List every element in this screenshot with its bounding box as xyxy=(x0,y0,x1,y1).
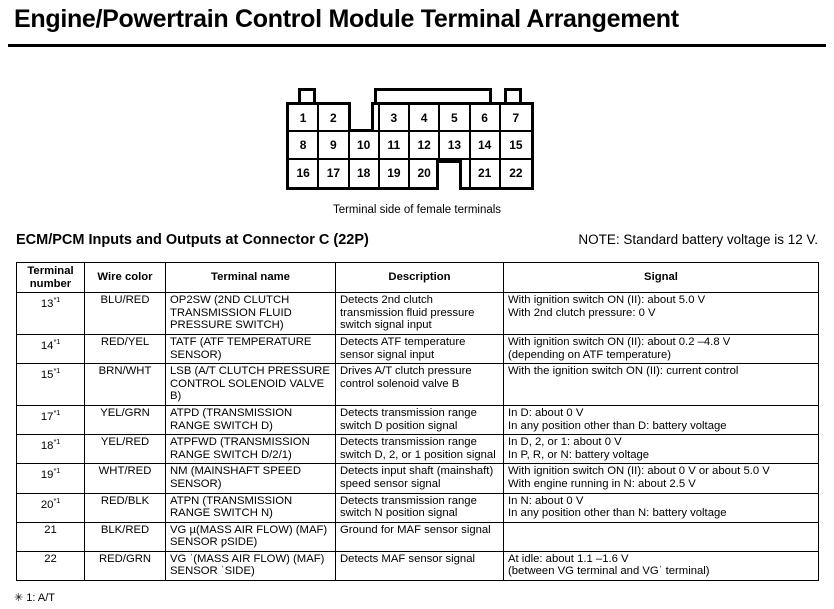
cell-description: Detects transmission range switch D posi… xyxy=(336,405,504,434)
title-divider xyxy=(8,44,826,47)
footnote-marker: *1 xyxy=(53,295,60,304)
footnote: ✳ 1: A/T xyxy=(14,591,55,604)
cell-description: Detects input shaft (mainshaft) speed se… xyxy=(336,464,504,493)
connector-pin-14: 14 xyxy=(471,132,501,159)
cell-terminal-name: ATPD (TRANSMISSION RANGE SWITCH D) xyxy=(166,405,336,434)
cell-wire-color: RED/BLK xyxy=(85,493,166,522)
connector-pin-6: 6 xyxy=(471,105,501,132)
cell-terminal-number: 13*1 xyxy=(17,293,85,335)
connector-pin-1: 1 xyxy=(289,105,319,132)
connector-pin-21: 21 xyxy=(471,160,501,187)
footnote-marker: *1 xyxy=(53,466,60,475)
cell-signal: In N: about 0 V In any position other th… xyxy=(504,493,819,522)
cell-signal: With the ignition switch ON (II): curren… xyxy=(504,364,819,406)
connector-pin-11: 11 xyxy=(380,132,410,159)
connector-pin-17: 17 xyxy=(319,160,349,187)
section-title: ECM/PCM Inputs and Outputs at Connector … xyxy=(16,232,369,248)
table-row: 20*1RED/BLKATPN (TRANSMISSION RANGE SWIT… xyxy=(17,493,819,522)
cell-signal: In D, 2, or 1: about 0 V In P, R, or N: … xyxy=(504,435,819,464)
cell-signal: With ignition switch ON (II): about 0.2 … xyxy=(504,334,819,363)
cell-description: Detects transmission range switch D, 2, … xyxy=(336,435,504,464)
connector-pin-18: 18 xyxy=(350,160,380,187)
footnote-marker: *1 xyxy=(53,366,60,375)
table-row: 15*1BRN/WHTLSB (A/T CLUTCH PRESSURE CONT… xyxy=(17,364,819,406)
table-row: 14*1RED/YELTATF (ATF TEMPERATURE SENSOR)… xyxy=(17,334,819,363)
table-header-row: Terminal number Wire color Terminal name… xyxy=(17,263,819,293)
cell-signal: With ignition switch ON (II): about 5.0 … xyxy=(504,293,819,335)
cell-wire-color: YEL/GRN xyxy=(85,405,166,434)
cell-terminal-number: 15*1 xyxy=(17,364,85,406)
connector-pin-9: 9 xyxy=(319,132,349,159)
cell-wire-color: RED/GRN xyxy=(85,551,166,580)
page-title: Engine/Powertrain Control Module Termina… xyxy=(14,4,820,34)
connector-pin-2: 2 xyxy=(319,105,349,132)
cell-terminal-name: NM (MAINSHAFT SPEED SENSOR) xyxy=(166,464,336,493)
connector-diagram: 12345678910111213141516171819202122 xyxy=(286,82,540,194)
cell-terminal-number: 18*1 xyxy=(17,435,85,464)
connector-pin-8: 8 xyxy=(289,132,319,159)
connector-pin-4: 4 xyxy=(410,105,440,132)
cell-signal xyxy=(504,522,819,551)
cell-terminal-number: 19*1 xyxy=(17,464,85,493)
connector-pin-15: 15 xyxy=(501,132,531,159)
table-row: 21BLK/REDVG µ(MASS AIR FLOW) (MAF) SENSO… xyxy=(17,522,819,551)
cell-description: Detects transmission range switch N posi… xyxy=(336,493,504,522)
connector-pin-16: 16 xyxy=(289,160,319,187)
table-row: 17*1YEL/GRNATPD (TRANSMISSION RANGE SWIT… xyxy=(17,405,819,434)
connector-pin-3: 3 xyxy=(380,105,410,132)
connector-pin-10: 10 xyxy=(350,132,380,159)
cell-wire-color: WHT/RED xyxy=(85,464,166,493)
cell-terminal-number: 21 xyxy=(17,522,85,551)
cell-terminal-name: OP2SW (2ND CLUTCH TRANSMISSION FLUID PRE… xyxy=(166,293,336,335)
table-row: 18*1YEL/REDATPFWD (TRANSMISSION RANGE SW… xyxy=(17,435,819,464)
cell-signal: At idle: about 1.1 –1.6 V (between VG te… xyxy=(504,551,819,580)
cell-description: Detects MAF sensor signal xyxy=(336,551,504,580)
table-row: 22RED/GRNVG ˈ(MASS AIR FLOW) (MAF) SENSO… xyxy=(17,551,819,580)
cell-description: Drives A/T clutch pressure control solen… xyxy=(336,364,504,406)
cell-terminal-number: 20*1 xyxy=(17,493,85,522)
connector-pin-5: 5 xyxy=(440,105,470,132)
footnote-marker: *1 xyxy=(53,408,60,417)
table-row: 19*1WHT/REDNM (MAINSHAFT SPEED SENSOR)De… xyxy=(17,464,819,493)
cell-wire-color: RED/YEL xyxy=(85,334,166,363)
cell-terminal-name: ATPFWD (TRANSMISSION RANGE SWITCH D/2/1) xyxy=(166,435,336,464)
cell-terminal-number: 14*1 xyxy=(17,334,85,363)
connector-top-notch xyxy=(348,102,374,132)
cell-wire-color: BRN/WHT xyxy=(85,364,166,406)
terminal-table: Terminal number Wire color Terminal name… xyxy=(16,262,819,581)
connector-pin-13: 13 xyxy=(440,132,470,159)
cell-description: Detects 2nd clutch transmission fluid pr… xyxy=(336,293,504,335)
connector-bottom-notch xyxy=(436,160,462,190)
cell-terminal-number: 22 xyxy=(17,551,85,580)
cell-terminal-number: 17*1 xyxy=(17,405,85,434)
table-row: 13*1BLU/REDOP2SW (2ND CLUTCH TRANSMISSIO… xyxy=(17,293,819,335)
cell-terminal-name: VG µ(MASS AIR FLOW) (MAF) SENSOR ƿSIDE) xyxy=(166,522,336,551)
cell-description: Ground for MAF sensor signal xyxy=(336,522,504,551)
connector-pin-12: 12 xyxy=(410,132,440,159)
footnote-marker: *1 xyxy=(53,496,60,505)
cell-terminal-name: LSB (A/T CLUTCH PRESSURE CONTROL SOLENOI… xyxy=(166,364,336,406)
header-description: Description xyxy=(336,263,504,293)
cell-terminal-name: TATF (ATF TEMPERATURE SENSOR) xyxy=(166,334,336,363)
header-terminal-name: Terminal name xyxy=(166,263,336,293)
section-note: NOTE: Standard battery voltage is 12 V. xyxy=(578,232,818,247)
connector-pin-22: 22 xyxy=(501,160,531,187)
header-wire-color: Wire color xyxy=(85,263,166,293)
cell-wire-color: YEL/RED xyxy=(85,435,166,464)
connector-pin-19: 19 xyxy=(380,160,410,187)
section-header: ECM/PCM Inputs and Outputs at Connector … xyxy=(16,232,818,248)
cell-wire-color: BLK/RED xyxy=(85,522,166,551)
connector-caption: Terminal side of female terminals xyxy=(0,204,834,216)
footnote-marker: *1 xyxy=(53,437,60,446)
cell-wire-color: BLU/RED xyxy=(85,293,166,335)
cell-signal: With ignition switch ON (II): about 0 V … xyxy=(504,464,819,493)
header-signal: Signal xyxy=(504,263,819,293)
connector-pin-grid: 12345678910111213141516171819202122 xyxy=(286,102,534,190)
connector-pin-7: 7 xyxy=(501,105,531,132)
cell-description: Detects ATF temperature sensor signal in… xyxy=(336,334,504,363)
cell-terminal-name: VG ˈ(MASS AIR FLOW) (MAF) SENSOR ˈSIDE) xyxy=(166,551,336,580)
cell-terminal-name: ATPN (TRANSMISSION RANGE SWITCH N) xyxy=(166,493,336,522)
cell-signal: In D: about 0 V In any position other th… xyxy=(504,405,819,434)
header-terminal-number: Terminal number xyxy=(17,263,85,293)
footnote-marker: *1 xyxy=(53,337,60,346)
